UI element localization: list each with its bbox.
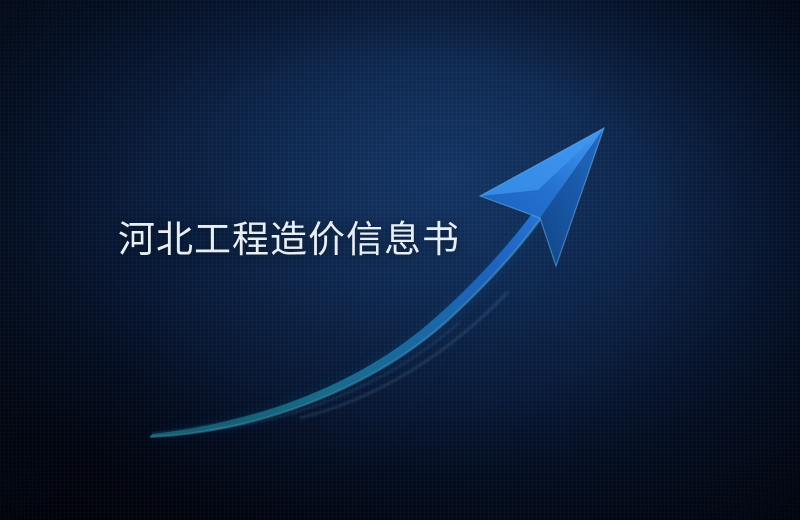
page-title: 河北工程造价信息书 [118, 218, 460, 262]
banner-image: 河北工程造价信息书 [0, 0, 800, 520]
